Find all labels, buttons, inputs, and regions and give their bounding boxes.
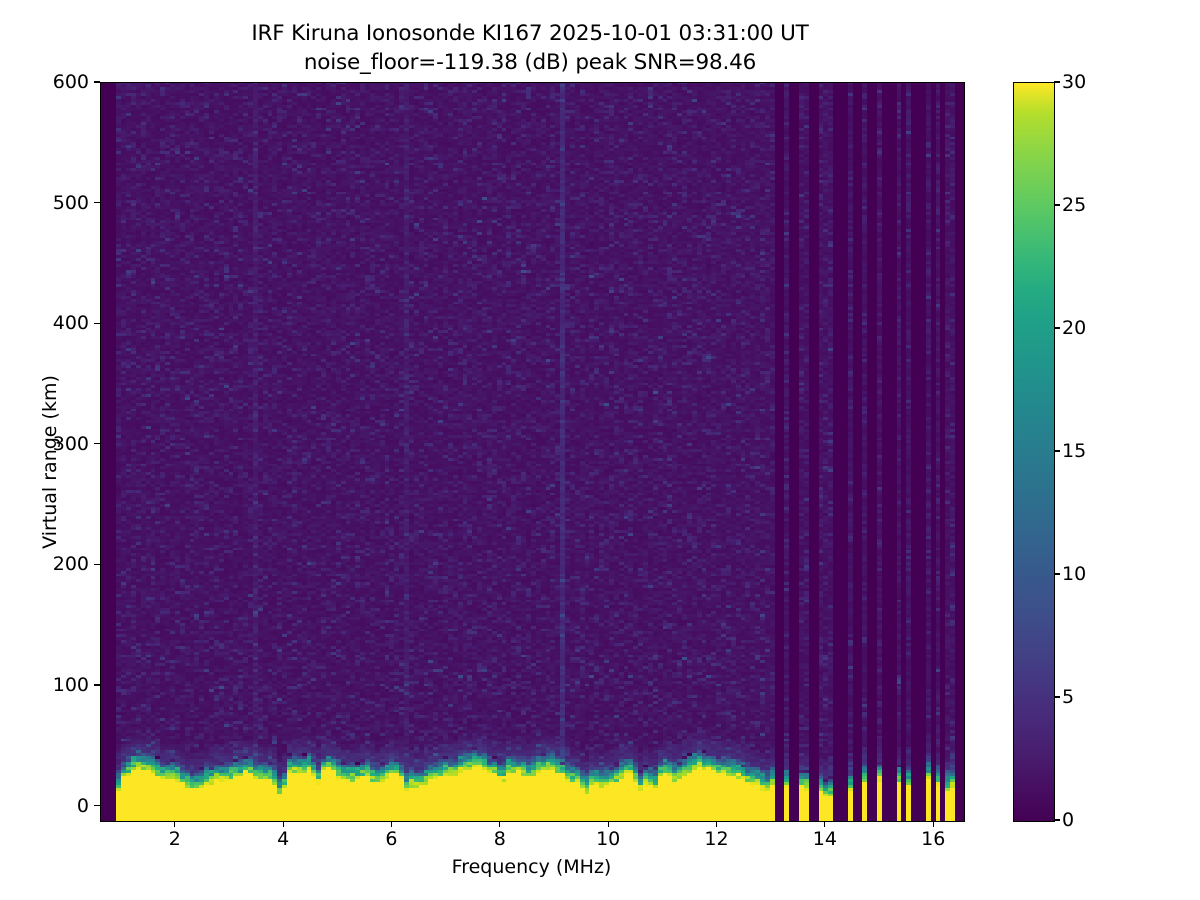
- colorbar-tick-mark: [1054, 81, 1060, 82]
- x-tick-label-14: 14: [813, 828, 837, 850]
- colorbar-tick-mark: [1054, 573, 1060, 574]
- x-tick-label-2: 2: [169, 828, 181, 850]
- x-tick-label-4: 4: [277, 828, 289, 850]
- x-tick-label-16: 16: [921, 828, 945, 850]
- y-tick-mark: [94, 202, 100, 203]
- x-tick-mark: [608, 821, 609, 827]
- x-tick-mark: [391, 821, 392, 827]
- figure-title: IRF Kiruna Ionosonde KI167 2025-10-01 03…: [0, 20, 1060, 78]
- y-tick-mark: [94, 443, 100, 444]
- y-tick-mark: [94, 323, 100, 324]
- colorbar-tick-label-5: 5: [1062, 686, 1074, 708]
- colorbar-tick-mark: [1054, 327, 1060, 328]
- colorbar-tick-mark: [1054, 204, 1060, 205]
- colorbar-tick-label-15: 15: [1062, 440, 1086, 462]
- y-axis-label: Virtual range (km): [39, 162, 61, 762]
- heatmap-clip: [101, 83, 964, 821]
- colorbar-tick-label-0: 0: [1062, 809, 1074, 831]
- ionogram-figure: IRF Kiruna Ionosonde KI167 2025-10-01 03…: [0, 0, 1200, 900]
- x-tick-mark: [174, 821, 175, 827]
- colorbar-tick-mark: [1054, 450, 1060, 451]
- ionogram-plot-area[interactable]: [100, 82, 965, 822]
- x-tick-label-10: 10: [596, 828, 620, 850]
- title-line-2: noise_floor=-119.38 (dB) peak SNR=98.46: [0, 49, 1060, 78]
- x-tick-label-8: 8: [494, 828, 506, 850]
- ionogram-heatmap: [101, 83, 964, 821]
- x-tick-label-6: 6: [385, 828, 397, 850]
- colorbar-tick-mark: [1054, 819, 1060, 820]
- y-tick-mark: [94, 684, 100, 685]
- colorbar-tick-label-25: 25: [1062, 194, 1086, 216]
- x-tick-mark: [824, 821, 825, 827]
- x-tick-label-12: 12: [704, 828, 728, 850]
- y-tick-mark: [94, 564, 100, 565]
- x-tick-mark: [283, 821, 284, 827]
- y-tick-mark: [94, 81, 100, 82]
- y-tick-label-0: 0: [77, 795, 89, 817]
- title-line-1: IRF Kiruna Ionosonde KI167 2025-10-01 03…: [251, 21, 808, 46]
- y-tick-mark: [94, 805, 100, 806]
- colorbar-tick-label-20: 20: [1062, 317, 1086, 339]
- x-tick-mark: [716, 821, 717, 827]
- y-tick-label-600: 600: [53, 71, 89, 93]
- x-tick-mark: [933, 821, 934, 827]
- x-axis-label: Frequency (MHz): [100, 856, 963, 878]
- colorbar-tick-label-10: 10: [1062, 563, 1086, 585]
- colorbar-tick-label-30: 30: [1062, 71, 1086, 93]
- colorbar[interactable]: [1013, 82, 1055, 822]
- colorbar-tick-mark: [1054, 696, 1060, 697]
- x-tick-mark: [499, 821, 500, 827]
